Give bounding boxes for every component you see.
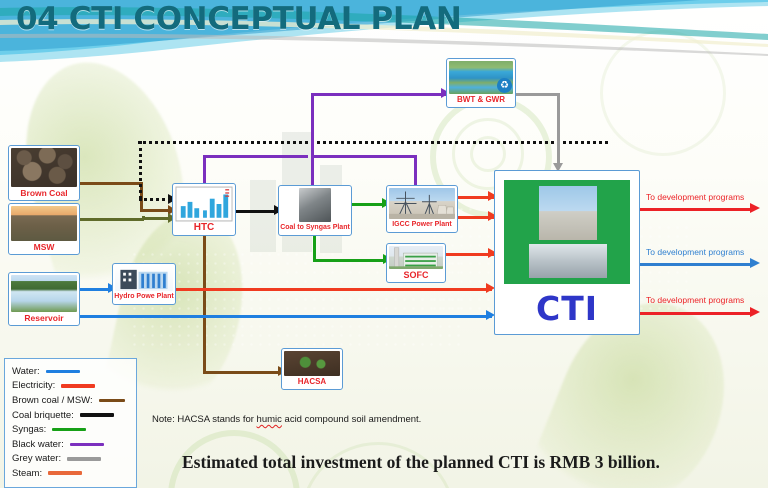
line-syngas-to-sofc	[313, 259, 387, 262]
legend-label-black-water: Black water:	[12, 439, 64, 450]
legend-swatch-syngas	[52, 428, 86, 431]
node-cti-label: CTI	[495, 289, 639, 328]
legend-swatch-grey-water	[67, 457, 101, 460]
node-hydro-power-plant[interactable]: Hydro Powe Plant	[112, 263, 176, 305]
output-label-1: To development programs	[646, 192, 744, 202]
legend-item-electricity: Electricity:	[12, 379, 129, 394]
line-blackwater-syngas-up	[311, 93, 314, 185]
line-msw-right	[80, 218, 144, 221]
node-msw-label: MSW	[34, 241, 55, 252]
node-igcc-power-plant-label: IGCC Power Plant	[392, 219, 452, 230]
line-browncoal-right	[80, 182, 142, 185]
node-msw[interactable]: MSW	[8, 203, 80, 255]
line-blackwater-htc-up	[203, 155, 206, 183]
arrowhead-output-1	[750, 203, 760, 213]
line-output-2	[640, 263, 754, 266]
line-briquette-down	[139, 141, 142, 199]
footer-investment-statement: Estimated total investment of the planne…	[182, 452, 660, 473]
legend-item-steam: Steam:	[12, 466, 129, 481]
sofc-photo	[389, 246, 443, 269]
line-syngas-to-igcc	[352, 203, 386, 206]
node-sofc-label: SOFC	[403, 269, 428, 280]
hacsa-photo	[284, 351, 340, 376]
output-label-2: To development programs	[646, 247, 744, 257]
node-cti[interactable]: CTI	[494, 170, 640, 335]
legend-item-brown-coal-msw: Brown coal / MSW:	[12, 393, 129, 408]
note-spellchecked-word: humic	[257, 414, 282, 425]
node-sofc[interactable]: SOFC	[386, 243, 446, 283]
node-htc-label: HTC	[194, 222, 215, 233]
line-syngas-down	[313, 236, 316, 260]
legend-item-black-water: Black water:	[12, 437, 129, 452]
htc-photo	[175, 186, 233, 222]
line-greywater-right	[516, 93, 560, 96]
node-coal-to-syngas-plant[interactable]: Coal to Syngas Plant	[278, 185, 352, 236]
line-blackwater-igcc-up	[414, 155, 417, 185]
line-htc-right-hacsa	[203, 371, 281, 374]
node-hacsa[interactable]: HACSA	[281, 348, 343, 390]
recycle-icon: ♻	[497, 78, 512, 93]
line-sofc-to-cti	[446, 253, 494, 256]
cti-plant-photo-top	[539, 186, 597, 240]
legend-swatch-black-water	[70, 443, 104, 446]
node-bwt-gwr-label: BWT & GWR	[457, 94, 505, 105]
legend-label-steam: Steam:	[12, 468, 42, 479]
slide-canvas: 04 CTI CONCEPTUAL PLAN	[0, 0, 768, 488]
legend-swatch-water	[46, 370, 80, 373]
legend-label-water: Water:	[12, 366, 40, 377]
hydro-power-plant-photo	[115, 266, 173, 291]
node-bwt-gwr[interactable]: ♻ BWT & GWR	[446, 58, 516, 108]
legend-label-coal-briquette: Coal briquette:	[12, 410, 74, 421]
coal-to-syngas-plant-photo	[299, 188, 330, 222]
line-htc-to-syngasplant	[236, 210, 278, 213]
legend-label-brown-coal-msw: Brown coal / MSW:	[12, 395, 93, 406]
brown-coal-photo	[11, 148, 77, 187]
node-igcc-power-plant[interactable]: IGCC Power Plant	[386, 185, 458, 233]
page-title: 04 CTI CONCEPTUAL PLAN	[16, 1, 461, 37]
legend-item-water: Water:	[12, 364, 129, 379]
reservoir-photo	[11, 275, 77, 312]
line-greywater-down	[557, 93, 560, 165]
legend-swatch-electricity	[61, 384, 95, 387]
legend-label-electricity: Electricity:	[12, 380, 55, 391]
node-htc[interactable]: HTC	[172, 183, 236, 236]
line-output-1	[640, 208, 754, 211]
line-hydro-to-cti	[176, 288, 492, 291]
legend: Water: Electricity: Brown coal / MSW: Co…	[4, 358, 137, 488]
node-brown-coal-label: Brown Coal	[20, 187, 67, 198]
background-building-3	[250, 180, 276, 252]
node-hacsa-label: HACSA	[298, 376, 326, 387]
line-blackwater-htc-right	[203, 155, 308, 158]
arrowhead-output-2	[750, 258, 760, 268]
line-blackwater-bus	[311, 155, 417, 158]
legend-swatch-coal-briquette	[80, 413, 114, 417]
legend-item-grey-water: Grey water:	[12, 452, 129, 467]
node-brown-coal[interactable]: Brown Coal	[8, 145, 80, 201]
node-reservoir-label: Reservoir	[24, 312, 63, 323]
node-reservoir[interactable]: Reservoir	[8, 272, 80, 326]
legend-item-coal-briquette: Coal briquette:	[12, 408, 129, 423]
output-label-3: To development programs	[646, 295, 744, 305]
legend-item-syngas: Syngas:	[12, 422, 129, 437]
msw-photo	[11, 206, 77, 241]
cti-plant-photo-bottom	[529, 244, 607, 278]
line-briquette-top	[138, 141, 608, 144]
line-htc-down-hacsa	[203, 236, 206, 372]
line-reservoir-to-cti	[80, 315, 492, 318]
legend-label-grey-water: Grey water:	[12, 453, 61, 464]
cti-image-panel	[504, 180, 630, 284]
node-hydro-power-plant-label: Hydro Powe Plant	[114, 291, 174, 302]
line-briquette-to-htc	[139, 198, 171, 201]
line-blackwater-to-bwt	[311, 93, 446, 96]
legend-swatch-brown-coal-msw	[99, 399, 125, 402]
arrowhead-output-3	[750, 307, 760, 317]
legend-swatch-steam	[48, 471, 82, 475]
legend-label-syngas: Syngas:	[12, 424, 46, 435]
node-coal-to-syngas-plant-label: Coal to Syngas Plant	[280, 222, 350, 233]
note-prefix: Note: HACSA stands for	[152, 414, 257, 425]
igcc-power-plant-photo	[389, 188, 455, 219]
line-output-3	[640, 312, 754, 315]
bwt-gwr-photo: ♻	[449, 61, 513, 94]
note-hacsa: Note: HACSA stands for humic acid compou…	[152, 414, 421, 425]
note-suffix: acid compound soil amendment.	[282, 414, 421, 425]
